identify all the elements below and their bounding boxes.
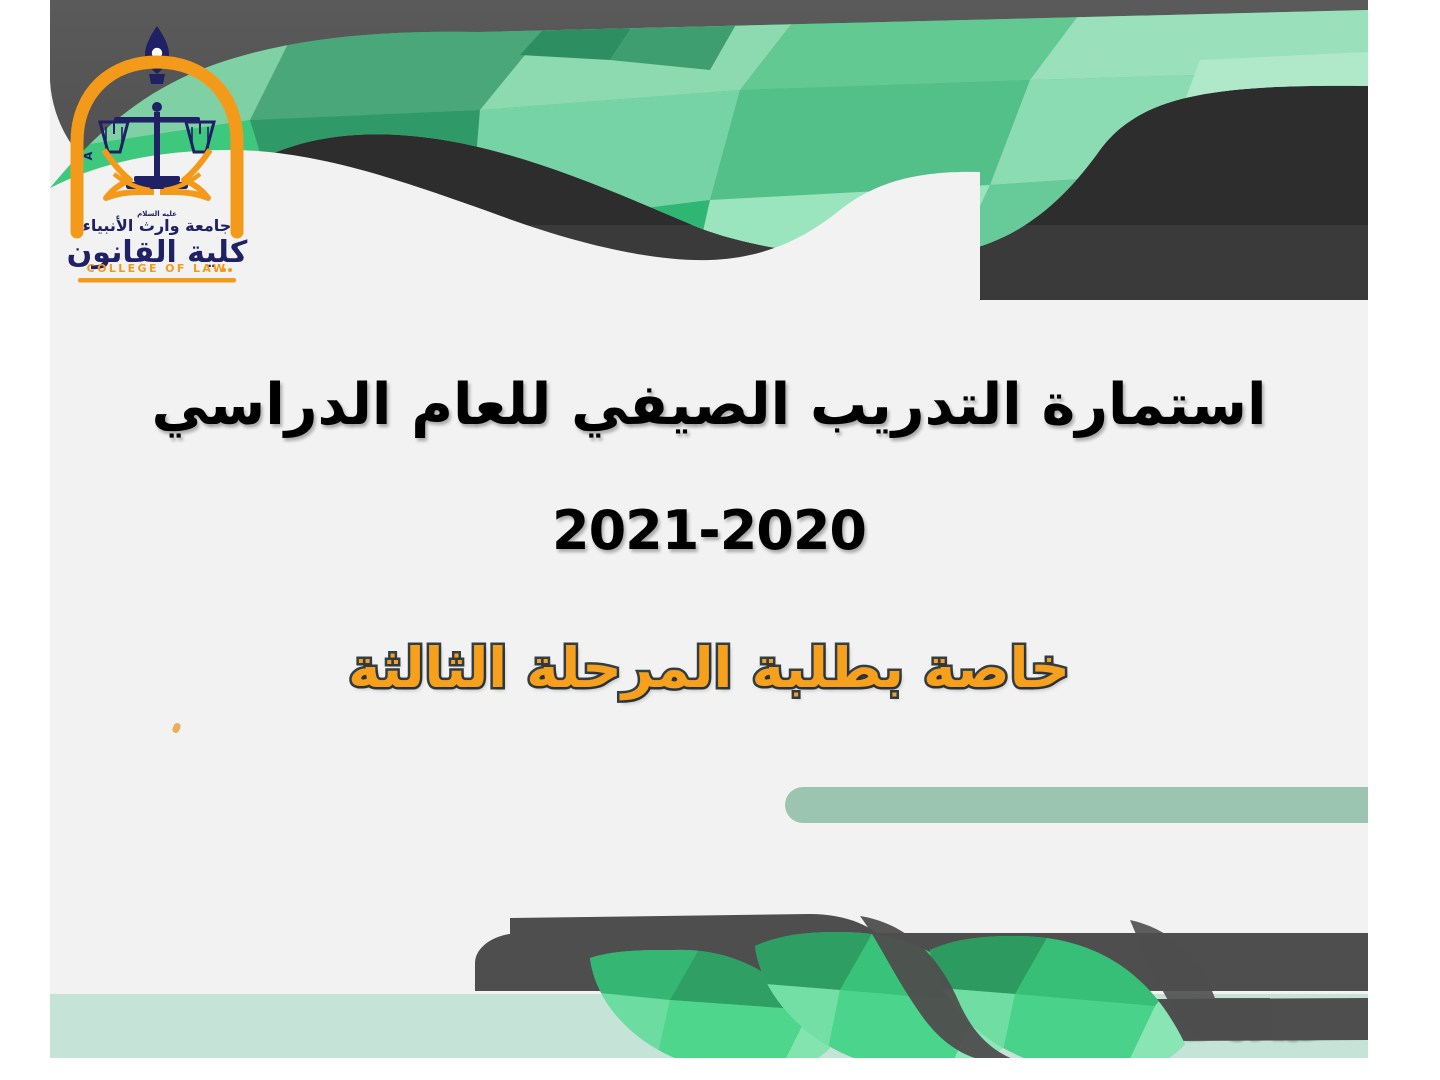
title-block: استمارة التدريب الصيفي للعام الدراسي 202… xyxy=(50,370,1368,562)
subtitle: خاصة بطلبة المرحلة الثالثة xyxy=(50,636,1368,700)
pen-nib-icon xyxy=(145,26,169,84)
right-margin xyxy=(1368,0,1440,1080)
svg-text:جامعة وارث الأنبياء: جامعة وارث الأنبياء xyxy=(83,216,232,235)
page-title: استمارة التدريب الصيفي للعام الدراسي xyxy=(50,370,1368,441)
svg-text:COLLEGE OF LAW: COLLEGE OF LAW xyxy=(87,262,228,275)
dark-decorative-bar xyxy=(475,933,1368,991)
left-margin xyxy=(0,0,50,1080)
footer-mint-band: عمادة كلية القانون xyxy=(50,994,1368,1058)
subtitle-block: خاصة بطلبة المرحلة الثالثة xyxy=(50,636,1368,700)
decorative-speck xyxy=(171,722,182,734)
sage-decorative-bar xyxy=(785,787,1368,823)
footer-label: عمادة كلية القانون xyxy=(990,994,1331,1058)
slide-plate: UNIVERSITY OF WARITH AL-ANBIYAA xyxy=(50,0,1368,1072)
slide-canvas: UNIVERSITY OF WARITH AL-ANBIYAA xyxy=(0,0,1440,1080)
bottom-margin xyxy=(0,1058,1440,1080)
academic-year: 2021-2020 xyxy=(50,499,1368,562)
university-logo: UNIVERSITY OF WARITH AL-ANBIYAA xyxy=(50,22,265,284)
